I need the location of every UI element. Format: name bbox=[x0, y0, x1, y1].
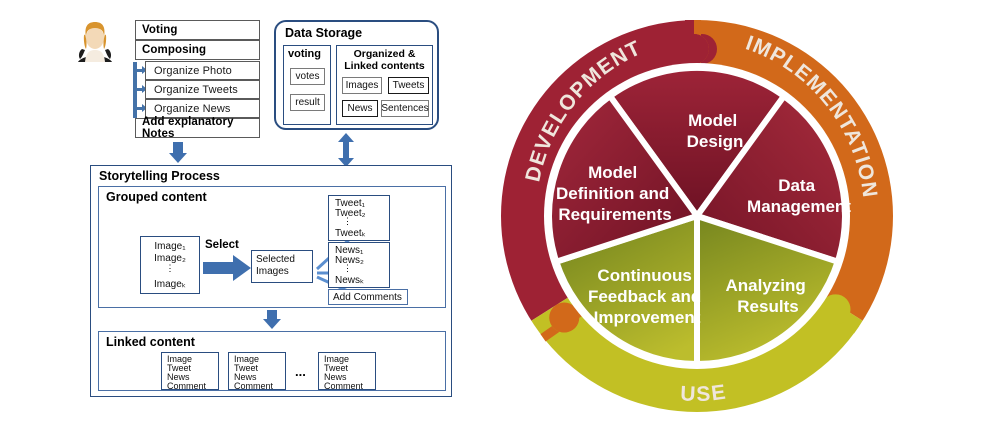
ring-label-use: USE bbox=[680, 381, 728, 407]
tweets-box: Tweet₁ Tweet₂ ⋮ Tweetₖ bbox=[328, 195, 390, 241]
social-storytelling-diagram: Voting Composing Organize Photo Organize… bbox=[0, 0, 470, 430]
news-box: News₁ News₂ ⋮ Newsₖ bbox=[328, 242, 390, 288]
linked-content-title: Linked content bbox=[106, 335, 195, 349]
linked-card-line: Comment bbox=[234, 381, 273, 391]
linked-card-line: Comment bbox=[324, 381, 363, 391]
menu-item-label: Organize Photo bbox=[154, 65, 232, 77]
organized-linked-box: Organized & Linked contents Images Tweet… bbox=[336, 45, 433, 125]
arrow-right-icon bbox=[203, 255, 251, 281]
selected-images-line1: Selected bbox=[256, 254, 295, 265]
lifecycle-wheel-diagram: Model Design Data Management Analyzing R… bbox=[487, 6, 907, 426]
grouped-content-panel: Grouped content Image₁ Image₂ ⋮ Imageₖ S… bbox=[98, 186, 446, 308]
linked-content-panel: Linked content Image Tweet News Comment … bbox=[98, 331, 446, 391]
menu-item-organize-photo[interactable]: Organize Photo bbox=[145, 61, 260, 80]
linked-card: Image Tweet News Comment bbox=[318, 352, 376, 390]
image-item: Image₁ bbox=[141, 241, 199, 252]
news-item: Newsₖ bbox=[335, 275, 364, 286]
linked-card-line: Comment bbox=[167, 381, 206, 391]
arrow-down-icon bbox=[167, 142, 189, 164]
voting-box: voting votes result bbox=[283, 45, 331, 125]
menu-item-label: Organize News bbox=[154, 103, 231, 115]
menu-item-voting[interactable]: Voting bbox=[135, 20, 260, 40]
images-box: Image₁ Image₂ ⋮ Imageₖ bbox=[140, 236, 200, 294]
content-chip-images: Images bbox=[342, 77, 382, 94]
tweet-item-ellipsis: ⋮ bbox=[343, 216, 352, 227]
add-comments-label: Add Comments bbox=[333, 292, 402, 303]
select-label: Select bbox=[205, 239, 239, 251]
menu-item-label: Voting bbox=[142, 24, 178, 36]
content-chip-label: News bbox=[347, 103, 372, 114]
selected-images-line2: Images bbox=[256, 266, 289, 277]
content-chip-sentences: Sentences bbox=[381, 100, 429, 117]
user-avatar-icon bbox=[74, 18, 116, 62]
data-storage-panel: Data Storage voting votes result Organiz… bbox=[274, 20, 439, 130]
voting-item-result: result bbox=[290, 94, 325, 111]
organized-title-line2: Linked contents bbox=[337, 60, 432, 72]
tweet-item: Tweetₖ bbox=[335, 228, 366, 239]
content-chip-news: News bbox=[342, 100, 378, 117]
double-arrow-icon bbox=[335, 133, 357, 167]
menu-item-label: Organize Tweets bbox=[154, 84, 238, 96]
content-chip-tweets: Tweets bbox=[388, 77, 429, 94]
add-comments-box[interactable]: Add Comments bbox=[328, 289, 408, 305]
menu-item-add-explanatory-notes[interactable]: Add explanatory Notes bbox=[135, 118, 260, 138]
menu-item-composing[interactable]: Composing bbox=[135, 40, 260, 60]
selected-images-box: Selected Images bbox=[251, 250, 313, 283]
menu-item-organize-tweets[interactable]: Organize Tweets bbox=[145, 80, 260, 99]
menu-item-label: Add explanatory Notes bbox=[142, 116, 259, 140]
voting-title: voting bbox=[288, 48, 321, 60]
voting-item-label: votes bbox=[296, 71, 320, 82]
linked-cards-ellipsis: ... bbox=[295, 364, 306, 379]
linked-card: Image Tweet News Comment bbox=[228, 352, 286, 390]
grouped-content-title: Grouped content bbox=[106, 190, 207, 204]
data-storage-title: Data Storage bbox=[285, 26, 362, 40]
content-chip-label: Sentences bbox=[381, 103, 428, 114]
organized-title-line1: Organized & bbox=[337, 48, 432, 60]
image-item-ellipsis: ⋮ bbox=[141, 263, 199, 274]
voting-item-votes: votes bbox=[290, 68, 325, 85]
image-item: Imageₖ bbox=[141, 279, 199, 290]
segment-label-continuous-feedback: Continuous Feedback and Improvement bbox=[588, 266, 706, 327]
news-item-ellipsis: ⋮ bbox=[343, 263, 352, 274]
storytelling-process-panel: Storytelling Process Grouped content Ima… bbox=[90, 165, 452, 397]
arrow-down-icon bbox=[261, 310, 283, 330]
content-chip-label: Tweets bbox=[393, 80, 425, 91]
content-chip-label: Images bbox=[346, 80, 379, 91]
storytelling-title: Storytelling Process bbox=[99, 169, 220, 183]
voting-item-label: result bbox=[295, 97, 319, 108]
linked-card: Image Tweet News Comment bbox=[161, 352, 219, 390]
menu-item-label: Composing bbox=[142, 44, 206, 56]
